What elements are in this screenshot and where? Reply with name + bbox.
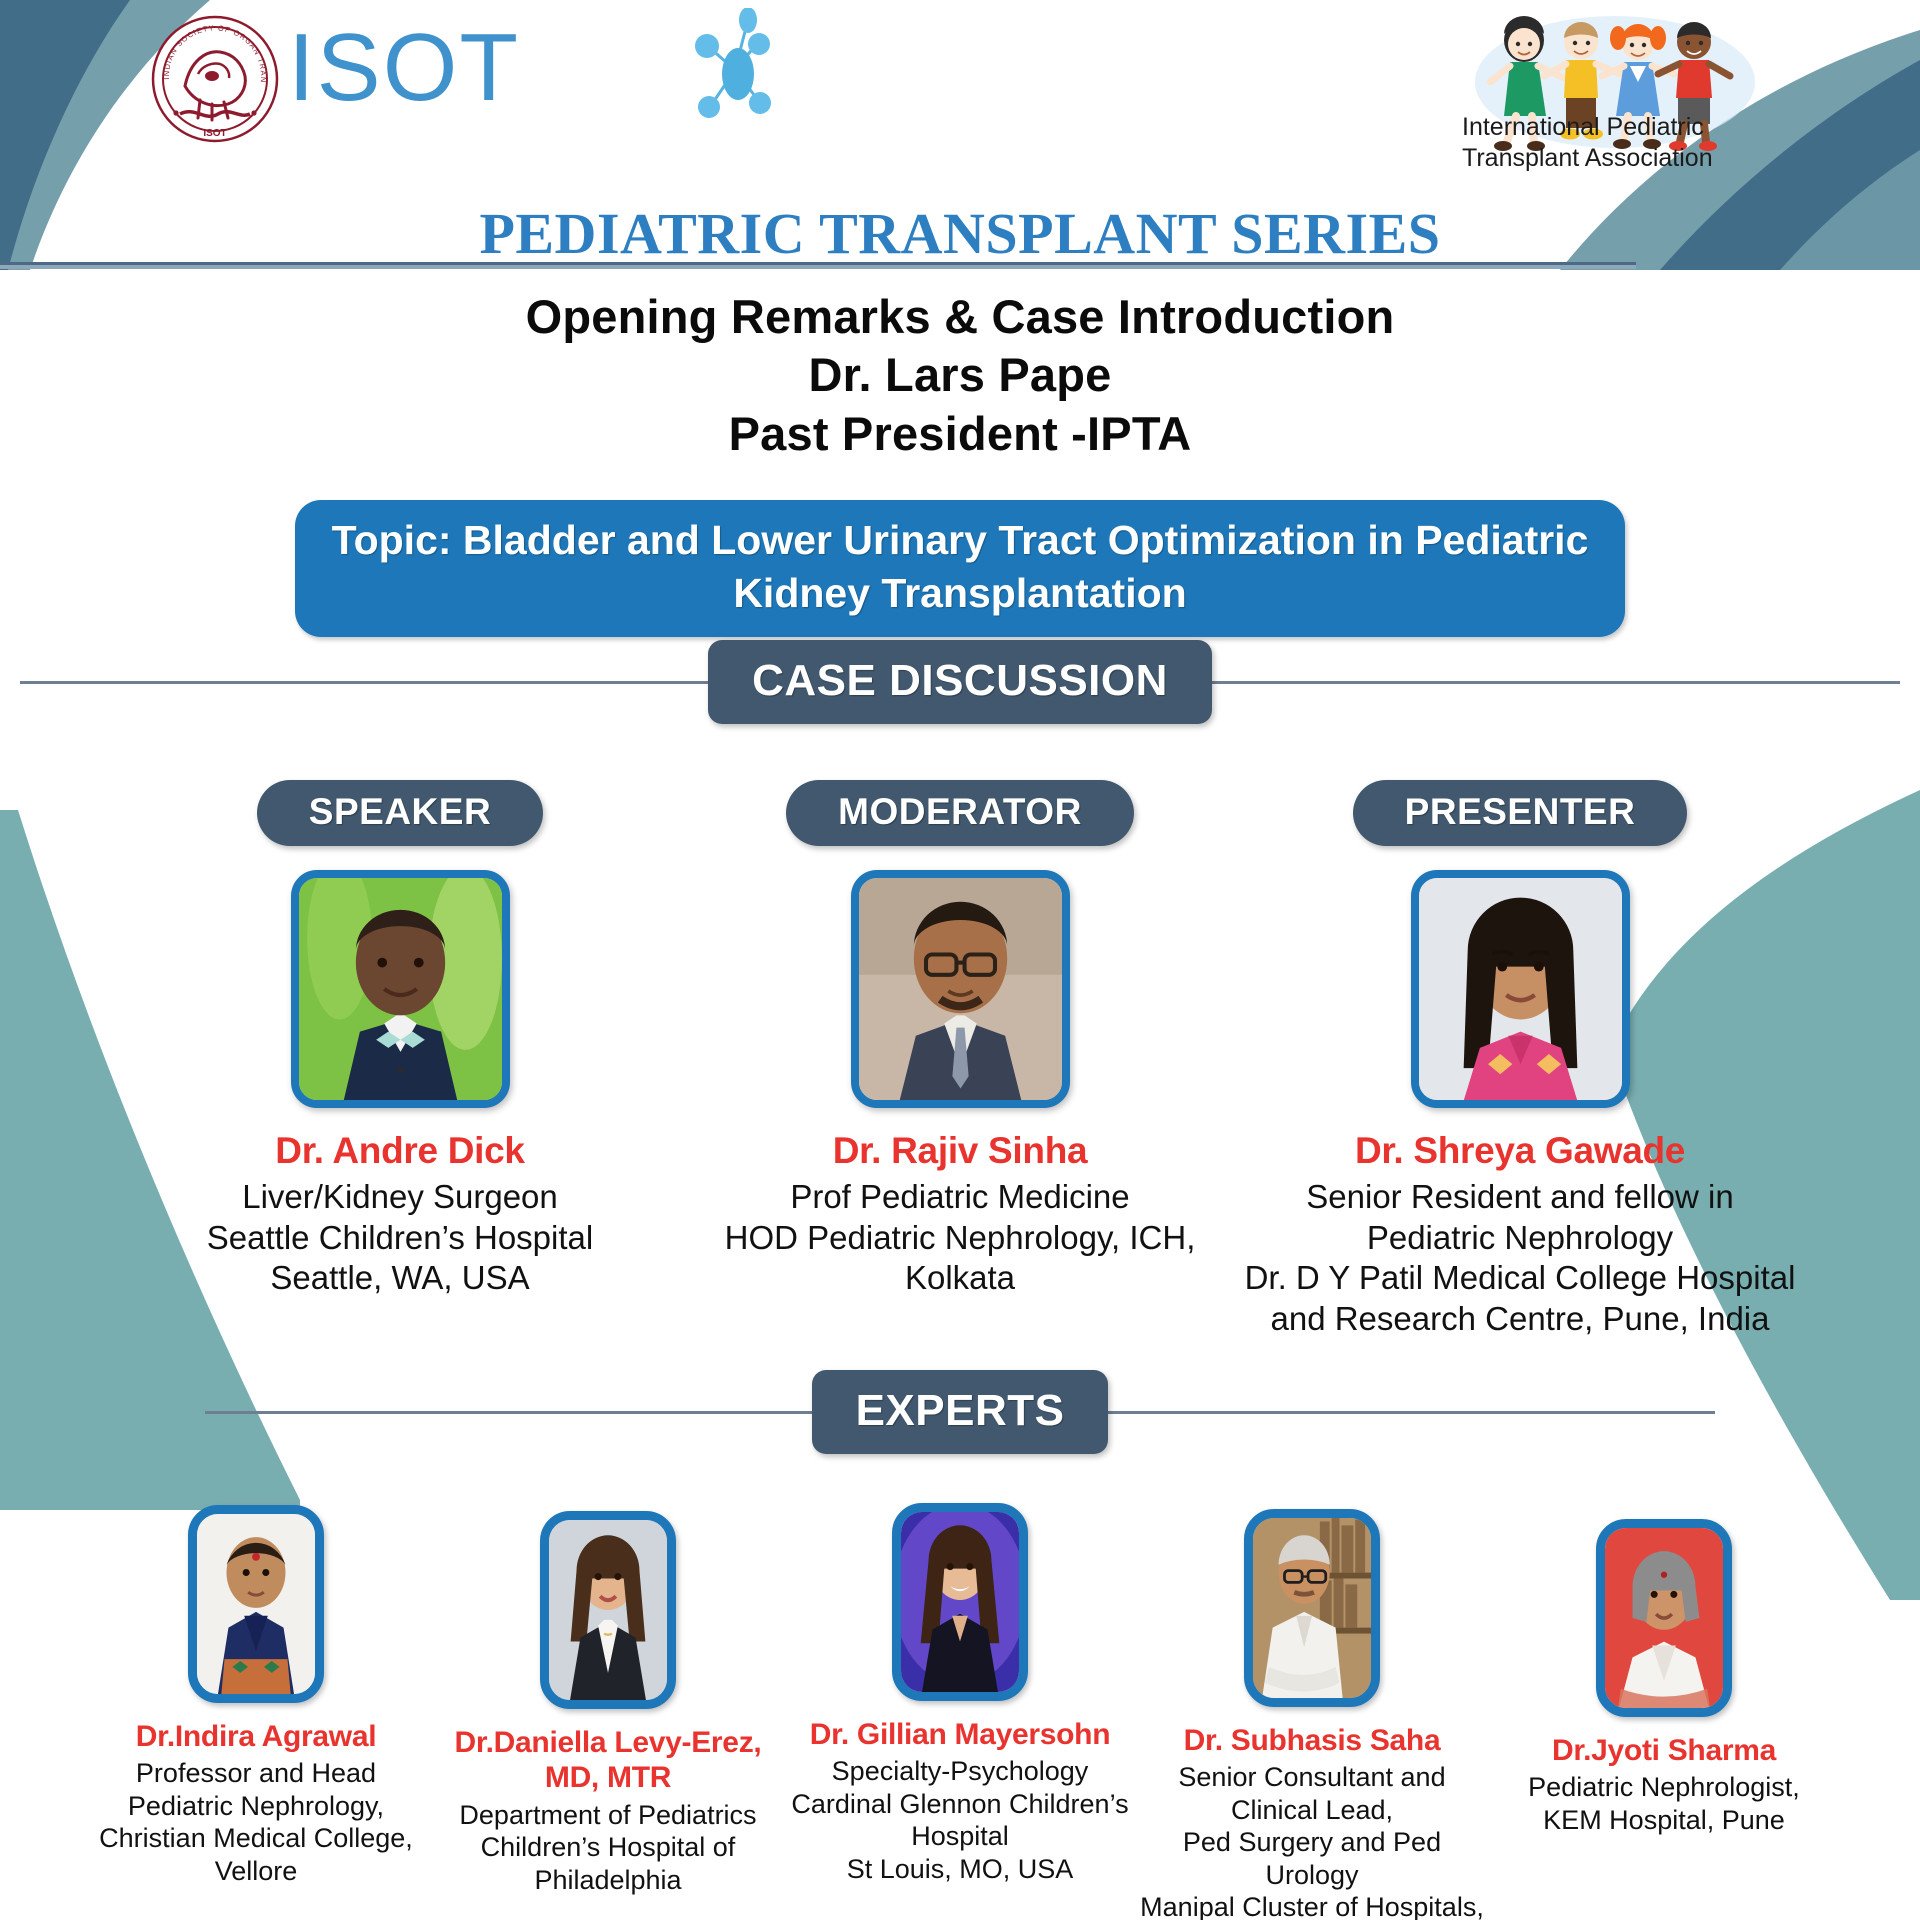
case-discussion-section-header: CASE DISCUSSION [0, 640, 1920, 724]
experts-chip: EXPERTS [812, 1370, 1109, 1454]
expert-name: Dr.Jyoti Sharma [1552, 1733, 1776, 1768]
panel-row: SPEAKER Dr. Andre D [0, 780, 1920, 1339]
expert-card: Dr. Gillian Mayersohn Specialty-Psycholo… [784, 1503, 1136, 1885]
expert-name: Dr. Gillian Mayersohn [810, 1717, 1110, 1752]
panel-name-moderator: Dr. Rajiv Sinha [833, 1130, 1088, 1172]
intro-line-3: Past President -IPTA [0, 405, 1920, 463]
photo-indira-agrawal [188, 1505, 324, 1703]
photo-subhasis-saha [1244, 1509, 1380, 1707]
photo-jyoti-sharma [1596, 1519, 1732, 1717]
role-chip-speaker: SPEAKER [257, 780, 543, 846]
svg-text:ISOT: ISOT [203, 128, 226, 139]
expert-desc: Specialty-Psychology Cardinal Glennon Ch… [791, 1755, 1128, 1885]
expert-card: Dr.Daniella Levy-Erez, MD, MTR Departmen… [432, 1511, 784, 1896]
experts-section-header: EXPERTS [0, 1370, 1920, 1454]
expert-desc: Pediatric Nephrologist, KEM Hospital, Pu… [1528, 1771, 1800, 1836]
topic-banner: Topic: Bladder and Lower Urinary Tract O… [295, 500, 1625, 637]
expert-card: Dr.Indira Agrawal Professor and Head Ped… [80, 1505, 432, 1887]
panel-desc-presenter: Senior Resident and fellow in Pediatric … [1245, 1177, 1796, 1339]
intro-line-1: Opening Remarks & Case Introduction [0, 288, 1920, 346]
panel-name-speaker: Dr. Andre Dick [275, 1130, 524, 1172]
photo-shreya-gawade [1411, 870, 1630, 1108]
intro-line-2: Dr. Lars Pape [0, 346, 1920, 404]
expert-desc: Professor and Head Pediatric Nephrology,… [80, 1757, 432, 1887]
expert-name: Dr.Daniella Levy-Erez, MD, MTR [455, 1725, 762, 1796]
topic-banner-wrap: Topic: Bladder and Lower Urinary Tract O… [0, 500, 1920, 637]
panel-member-speaker: SPEAKER Dr. Andre D [120, 780, 680, 1299]
poster-root: ISOT INDIAN SOCIETY OF ORGAN TRANSPLANTA… [0, 0, 1920, 1920]
divider-line-right [1206, 681, 1900, 684]
photo-andre-dick [291, 870, 510, 1108]
ipta-association-name: International Pediatric Transplant Assoc… [1462, 112, 1762, 173]
panel-desc-moderator: Prof Pediatric Medicine HOD Pediatric Ne… [680, 1177, 1240, 1299]
expert-name: Dr. Subhasis Saha [1184, 1723, 1441, 1758]
expert-card: Dr.Jyoti Sharma Pediatric Nephrologist, … [1488, 1519, 1840, 1836]
intro-block: Opening Remarks & Case Introduction Dr. … [0, 288, 1920, 463]
panel-desc-speaker: Liver/Kidney Surgeon Seattle Children’s … [207, 1177, 593, 1299]
role-chip-moderator: MODERATOR [786, 780, 1134, 846]
photo-gillian-mayersohn [892, 1503, 1028, 1701]
divider-line-right [1102, 1411, 1715, 1414]
expert-name: Dr.Indira Agrawal [136, 1719, 377, 1754]
experts-row: Dr.Indira Agrawal Professor and Head Ped… [0, 1505, 1920, 1920]
expert-desc: Department of Pediatrics Children’s Hosp… [432, 1799, 784, 1896]
photo-rajiv-sinha [851, 870, 1070, 1108]
series-title: PEDIATRIC TRANSPLANT SERIES [0, 200, 1920, 267]
isot-wordmark: ISOT [288, 20, 520, 116]
expert-card: Dr. Subhasis Saha Senior Consultant and … [1136, 1509, 1488, 1920]
panel-name-presenter: Dr. Shreya Gawade [1355, 1130, 1685, 1172]
expert-desc: Senior Consultant and Clinical Lead, Ped… [1136, 1761, 1488, 1920]
molecule-icon [660, 8, 810, 128]
case-discussion-chip: CASE DISCUSSION [708, 640, 1212, 724]
photo-daniella-levy-erez [540, 1511, 676, 1709]
panel-member-presenter: PRESENTER Dr. Shreya Gawade Senior Resid… [1240, 780, 1800, 1339]
panel-member-moderator: MODERATOR Dr. Rajiv Sinha [680, 780, 1240, 1299]
divider-line-left [20, 681, 714, 684]
isot-emblem-icon: ISOT INDIAN SOCIETY OF ORGAN TRANSPLANTA… [150, 14, 280, 144]
role-chip-presenter: PRESENTER [1353, 780, 1688, 846]
divider-line-left [205, 1411, 818, 1414]
